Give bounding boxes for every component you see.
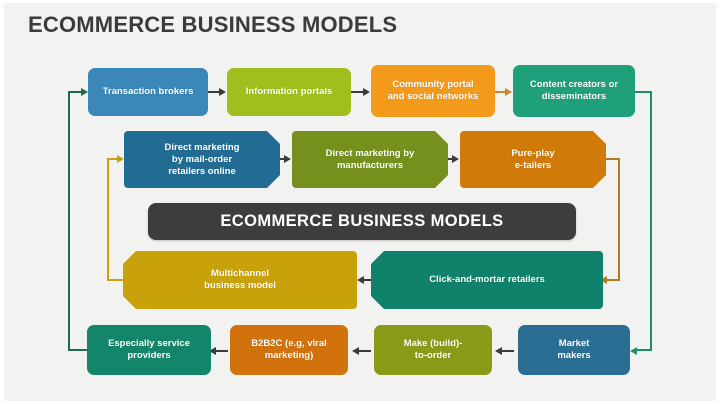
node-label: Click-and-mortar retailers: [429, 274, 545, 286]
node-especially-service-providers[interactable]: Especially service providers: [87, 325, 211, 375]
node-label: B2B2C (e.g, viral marketing): [251, 338, 327, 362]
node-label-line1: Direct marketing by: [326, 148, 415, 159]
node-label-line1: Market: [559, 338, 590, 349]
node-label: Especially service providers: [108, 338, 190, 362]
arrowhead-loop-left-gold: [117, 155, 124, 163]
node-label-line2: e-tailers: [515, 160, 551, 171]
node-label: Community portal and social networks: [388, 79, 479, 103]
connector-mm-to-mbto: [500, 350, 514, 352]
connector-b2b2c-to-esp: [214, 350, 228, 352]
node-pure-play-etailers[interactable]: Pure-play e-tailers: [460, 131, 606, 188]
node-label-line2: providers: [127, 350, 170, 361]
node-market-makers[interactable]: Market makers: [518, 325, 630, 375]
node-label-line2: by mail-order: [172, 154, 232, 165]
node-direct-marketing-mailorder[interactable]: Direct marketing by mail-order retailers…: [124, 131, 280, 188]
node-label: Direct marketing by mail-order retailers…: [165, 142, 240, 178]
center-banner-label: ECOMMERCE BUSINESS MODELS: [220, 212, 503, 231]
node-label-line3: retailers online: [168, 166, 236, 177]
node-community-portal[interactable]: Community portal and social networks: [371, 65, 495, 117]
node-label: Market makers: [557, 338, 590, 362]
loop-right-orange-vertical: [618, 158, 620, 280]
arrowhead-cam-to-multi: [357, 276, 364, 284]
arrowhead-loop-right-green: [630, 347, 637, 355]
node-label-line1: Community portal: [392, 79, 473, 90]
page-title: ECOMMERCE BUSINESS MODELS: [28, 12, 397, 38]
node-label: Pure-play e-tailers: [511, 148, 554, 172]
node-direct-marketing-manufacturers[interactable]: Direct marketing by manufacturers: [292, 131, 448, 188]
node-label-line2: disseminators: [542, 91, 606, 102]
node-multichannel-business-model[interactable]: Multichannel business model: [123, 251, 357, 309]
connector-mbto-to-b2b2c: [357, 350, 371, 352]
arrowhead-dmm-to-dmmfg: [284, 155, 291, 163]
loop-left-green-vertical: [68, 92, 70, 351]
arrowhead-loop-left-green: [81, 88, 88, 96]
node-label: Transaction brokers: [103, 86, 194, 98]
node-b2b2c[interactable]: B2B2C (e.g, viral marketing): [230, 325, 348, 375]
arrowhead-dmmfg-to-pure: [452, 155, 459, 163]
node-label-line2: to-order: [415, 350, 451, 361]
node-label-line1: Multichannel: [211, 268, 269, 279]
node-transaction-brokers[interactable]: Transaction brokers: [88, 68, 208, 116]
node-label: Make (build)- to-order: [404, 338, 463, 362]
loop-right-green-bottom: [636, 349, 652, 351]
center-banner: ECOMMERCE BUSINESS MODELS: [148, 203, 576, 240]
node-label: Content creators or disseminators: [530, 79, 618, 103]
node-label-line1: Content creators or: [530, 79, 618, 90]
arrowhead-mbto-to-b2b2c: [352, 347, 359, 355]
node-label-line2: manufacturers: [337, 160, 403, 171]
node-label-line1: Especially service: [108, 338, 190, 349]
node-label-line1: Make (build)-: [404, 338, 463, 349]
arrowhead-cp-to-cc: [505, 88, 512, 96]
loop-right-green-vertical: [650, 91, 652, 350]
node-click-and-mortar-retailers[interactable]: Click-and-mortar retailers: [371, 251, 603, 309]
slide-canvas: ECOMMERCE BUSINESS MODELS Transaction br…: [0, 0, 720, 404]
arrowhead-ip-to-cp: [363, 88, 370, 96]
node-label-line1: Pure-play: [511, 148, 554, 159]
node-make-build-to-order[interactable]: Make (build)- to-order: [374, 325, 492, 375]
node-label-line2: marketing): [265, 350, 314, 361]
node-label-line2: business model: [204, 280, 276, 291]
node-information-portals[interactable]: Information portals: [227, 68, 351, 116]
loop-right-orange-bottom: [606, 279, 620, 281]
slide-right-edge: [716, 0, 720, 404]
node-label: Multichannel business model: [204, 268, 276, 292]
node-label-line2: and social networks: [388, 91, 479, 102]
node-label: Information portals: [246, 86, 333, 98]
node-label-line2: makers: [557, 350, 590, 361]
loop-left-gold-vertical: [107, 159, 109, 280]
node-label-line1: Direct marketing: [165, 142, 240, 153]
node-label-line1: B2B2C (e.g, viral: [251, 338, 327, 349]
arrowhead-tb-to-ip: [219, 88, 226, 96]
arrowhead-mm-to-mbto: [495, 347, 502, 355]
slide-left-edge: [0, 0, 4, 404]
node-label: Direct marketing by manufacturers: [326, 148, 415, 172]
node-content-creators[interactable]: Content creators or disseminators: [513, 65, 635, 117]
